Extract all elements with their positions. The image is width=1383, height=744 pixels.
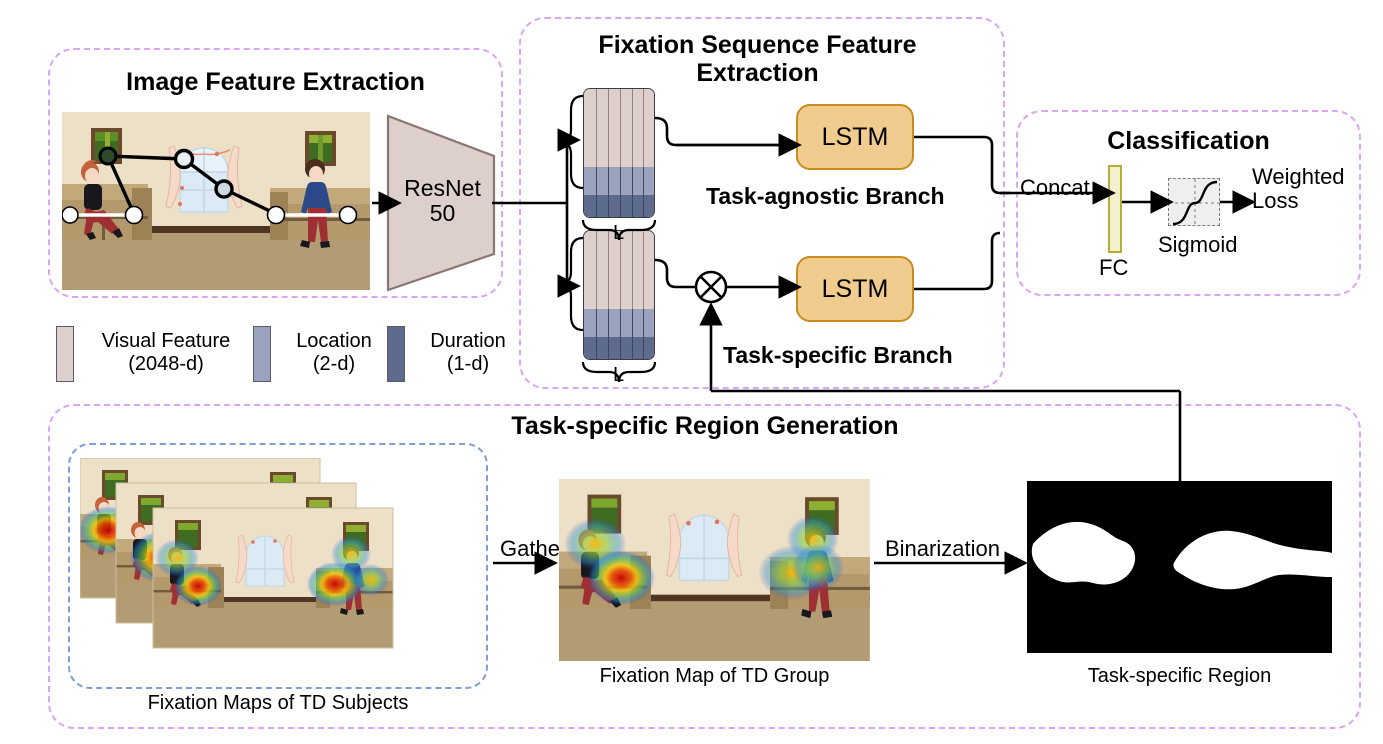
lstm-task-specific[interactable]: LSTM (796, 256, 914, 322)
feature-sequence-block-top (583, 88, 655, 218)
title-classification: Classification (1016, 127, 1361, 155)
weighted-loss-label: Weighted Loss (1252, 165, 1370, 213)
sigmoid-activation-box (1168, 178, 1220, 226)
fixation-map-td-group (559, 479, 870, 661)
living-room-illustration (62, 112, 370, 290)
fixation-maps-stack-svg (80, 458, 475, 673)
legend-swatch-visual-feature (56, 326, 74, 382)
legend-label-duration: Duration (1-d) (410, 330, 526, 376)
legend-swatch-duration (387, 326, 405, 382)
stimulus-image (62, 112, 370, 290)
concat-label: Concat (1020, 175, 1090, 201)
sigmoid-curve-icon (1169, 179, 1221, 227)
seq-length-label-bottom: L (613, 364, 624, 387)
fc-layer-bar (1108, 165, 1122, 253)
gather-label: Gather (500, 536, 567, 562)
fc-label: FC (1099, 255, 1128, 281)
fixation-maps-stack (80, 458, 475, 673)
seq-length-label-top: L (613, 222, 624, 245)
resnet-label: ResNet 50 (390, 176, 495, 227)
branch-label-task-specific: Task-specific Branch (723, 342, 953, 369)
feature-sequence-block-bottom (583, 230, 655, 360)
lstm-task-agnostic[interactable]: LSTM (796, 104, 914, 170)
title-image-feature-extraction: Image Feature Extraction (48, 68, 503, 96)
branch-label-task-agnostic: Task-agnostic Branch (706, 183, 945, 210)
binary-mask-svg (1027, 481, 1332, 653)
legend-label-location: Location (2-d) (276, 330, 392, 376)
binarization-label: Binarization (885, 536, 1000, 562)
legend-swatch-location (253, 326, 271, 382)
sigmoid-label: Sigmoid (1158, 232, 1237, 258)
task-specific-region-mask (1027, 481, 1332, 653)
title-fixation-sequence: Fixation Sequence Feature Extraction (565, 31, 950, 87)
legend-label-visual-feature: Visual Feature (2048-d) (78, 330, 254, 376)
caption-fixation-maps-td-subjects: Fixation Maps of TD Subjects (68, 692, 488, 715)
title-region-generation: Task-specific Region Generation (310, 412, 1100, 440)
fixation-map-td-group-svg (559, 479, 870, 661)
caption-fixation-map-td-group: Fixation Map of TD Group (559, 665, 870, 688)
caption-task-specific-region: Task-specific Region (1027, 665, 1332, 688)
